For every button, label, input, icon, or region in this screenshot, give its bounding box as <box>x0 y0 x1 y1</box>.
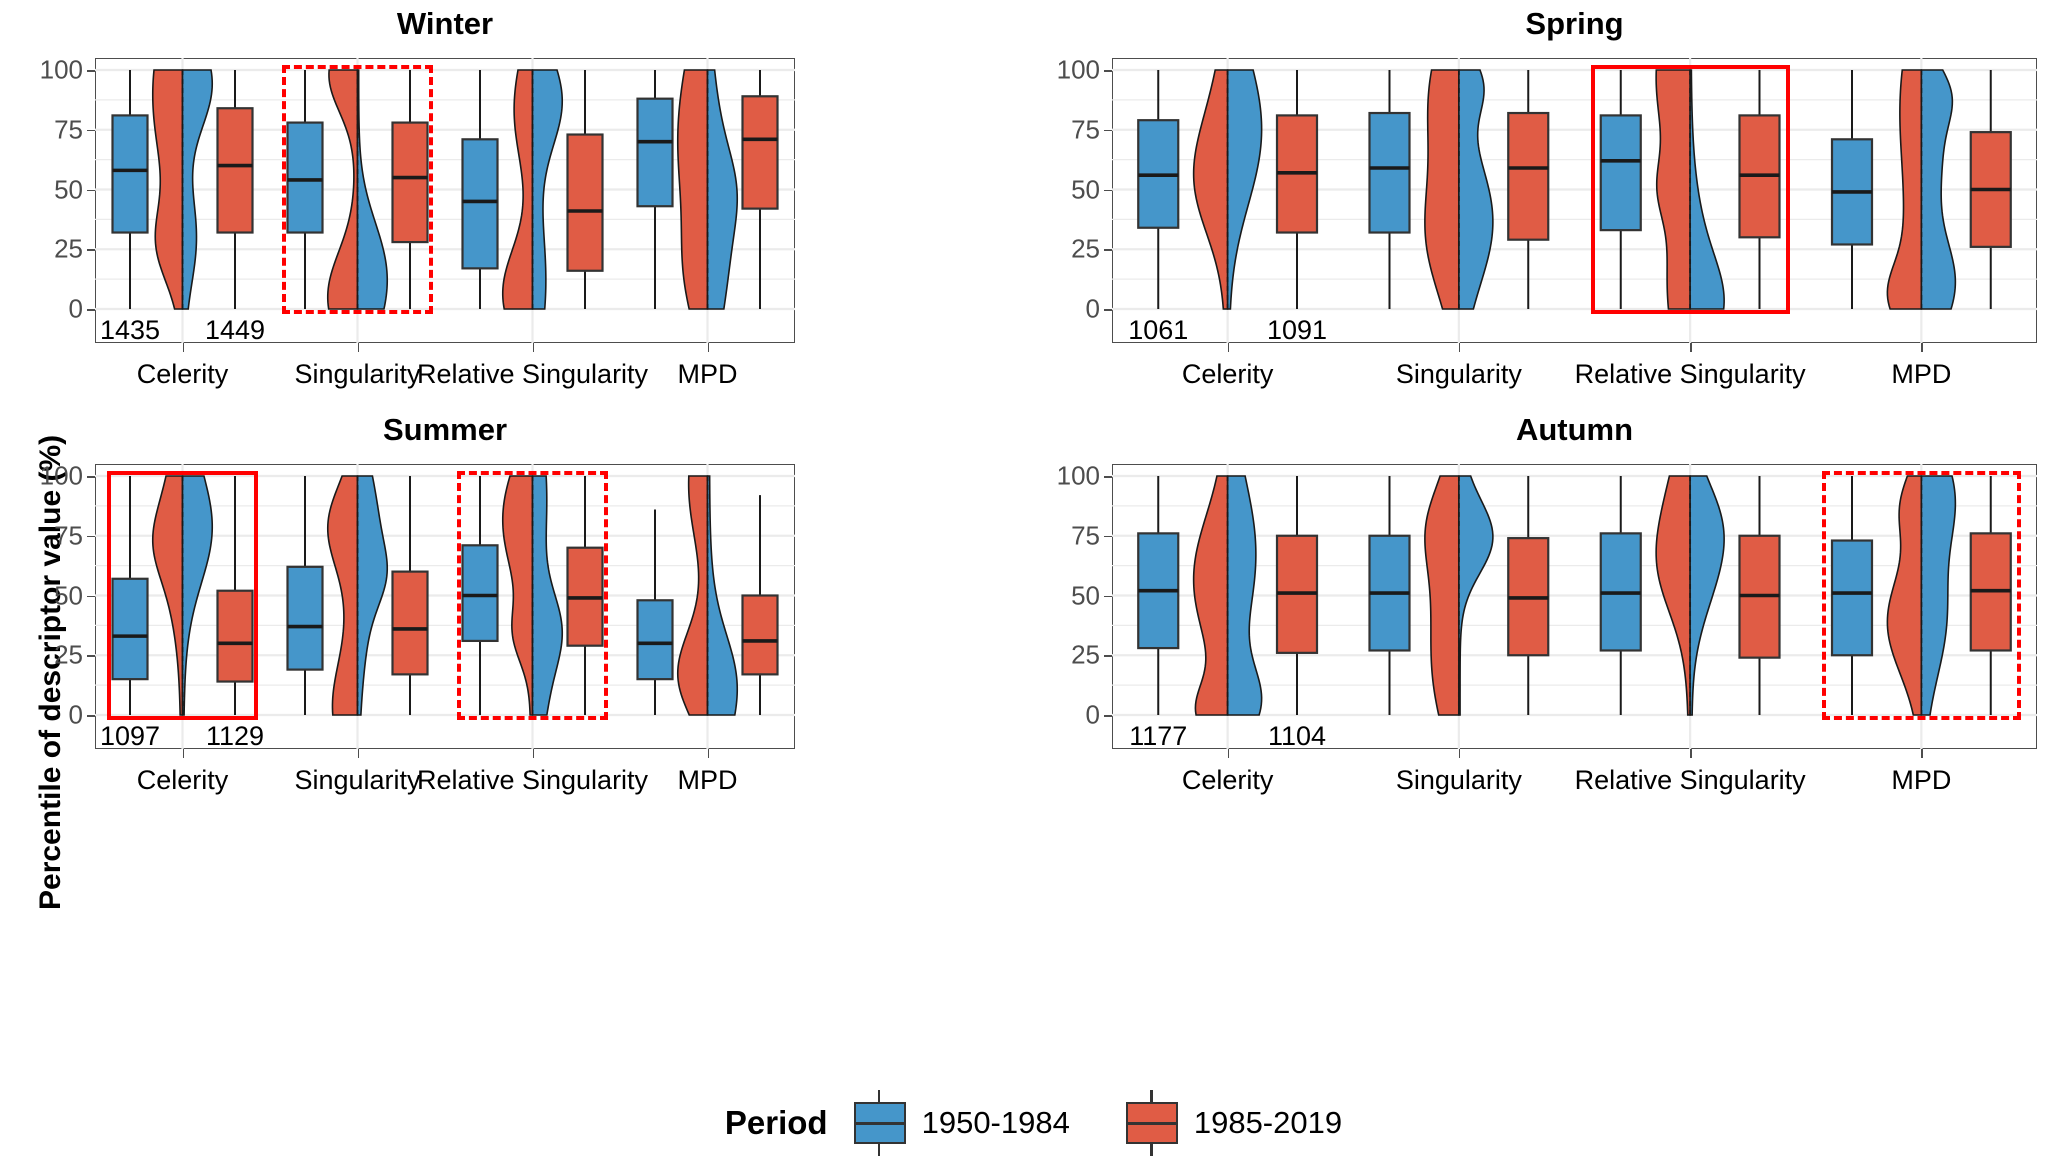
boxplot-1985-2019 <box>568 476 603 715</box>
y-tick-mark <box>87 309 95 311</box>
boxplot-1985-2019 <box>743 70 778 309</box>
x-tick-label-relative-singularity: Relative Singularity <box>417 765 648 796</box>
legend-key-median <box>854 1122 906 1125</box>
x-tick-label-celerity: Celerity <box>137 359 229 390</box>
y-tick-mark <box>87 249 95 251</box>
sample-size-label: 1097 <box>100 721 160 752</box>
x-tick-mark <box>1459 343 1461 352</box>
y-tick-label: 50 <box>23 174 83 205</box>
plot-canvas-summer <box>95 464 795 749</box>
y-tick-label: 0 <box>23 294 83 325</box>
boxplot-1985-2019 <box>1508 476 1548 715</box>
y-tick-mark <box>1104 309 1112 311</box>
boxplot-1950-1984 <box>1832 476 1872 715</box>
boxplot-1985-2019 <box>743 495 778 715</box>
x-tick-label-singularity: Singularity <box>1396 765 1522 796</box>
sample-size-label: 1177 <box>1129 721 1187 752</box>
boxplot-1950-1984 <box>1601 476 1641 715</box>
y-tick-label: 100 <box>1036 461 1100 492</box>
boxplot-1985-2019 <box>218 476 253 715</box>
y-tick-label: 100 <box>23 461 83 492</box>
plot-canvas-winter <box>95 58 795 343</box>
y-tick-label: 25 <box>23 234 83 265</box>
boxplot-1985-2019 <box>1971 70 2011 309</box>
y-tick-label: 25 <box>1036 640 1100 671</box>
x-tick-label-singularity: Singularity <box>294 765 420 796</box>
y-tick-mark <box>1104 536 1112 538</box>
sample-size-label: 1104 <box>1268 721 1326 752</box>
y-tick-mark <box>87 70 95 72</box>
x-tick-label-mpd: MPD <box>678 359 738 390</box>
x-tick-mark <box>1921 343 1923 352</box>
boxplot-1950-1984 <box>638 509 673 715</box>
boxplot-1950-1984 <box>463 476 498 715</box>
y-tick-label: 75 <box>1036 520 1100 551</box>
boxplot-1985-2019 <box>393 476 428 715</box>
violin-half-1985-2019 <box>1194 70 1228 309</box>
sample-size-label: 1129 <box>206 721 264 752</box>
sample-size-label: 1449 <box>205 315 265 346</box>
y-tick-mark <box>1104 130 1112 132</box>
y-tick-label: 75 <box>1036 114 1100 145</box>
x-tick-mark <box>183 343 185 352</box>
y-axis-label: Percentile of descriptor value (%) <box>34 435 68 910</box>
boxplot-1985-2019 <box>1277 476 1317 715</box>
violin-half-1985-2019 <box>1656 70 1690 309</box>
x-tick-label-relative-singularity: Relative Singularity <box>1575 359 1806 390</box>
y-tick-label: 0 <box>23 700 83 731</box>
violin-half-1950-1984 <box>1459 70 1493 309</box>
boxplot-1950-1984 <box>1138 476 1178 715</box>
boxplot-1985-2019 <box>1740 476 1780 715</box>
y-tick-label: 75 <box>23 114 83 145</box>
y-tick-mark <box>87 655 95 657</box>
x-tick-mark <box>708 749 710 758</box>
y-tick-label: 50 <box>1036 580 1100 611</box>
y-tick-label: 100 <box>23 55 83 86</box>
panel-spring <box>1112 58 2037 343</box>
y-tick-label: 25 <box>23 640 83 671</box>
y-tick-mark <box>87 190 95 192</box>
x-tick-label-celerity: Celerity <box>137 765 229 796</box>
boxplot-1950-1984 <box>1370 70 1410 309</box>
y-tick-label: 100 <box>1036 55 1100 86</box>
legend-key-period-1950-1984[interactable] <box>854 1090 906 1156</box>
x-tick-label-mpd: MPD <box>1891 359 1951 390</box>
x-tick-mark <box>533 749 535 758</box>
legend-label-period-1985-2019: 1985-2019 <box>1194 1105 1342 1141</box>
x-tick-label-celerity: Celerity <box>1182 359 1274 390</box>
boxplot-1950-1984 <box>113 476 148 715</box>
figure-root: Percentile of descriptor value (%)Winter… <box>0 0 2067 1168</box>
boxplot-1985-2019 <box>1508 70 1548 309</box>
panel-winter <box>95 58 795 343</box>
y-tick-mark <box>1104 596 1112 598</box>
x-tick-mark <box>1459 749 1461 758</box>
boxplot-1985-2019 <box>1277 70 1317 309</box>
y-tick-label: 75 <box>23 520 83 551</box>
boxplot-1985-2019 <box>1740 70 1780 309</box>
boxplot-1985-2019 <box>568 70 603 309</box>
boxplot-1950-1984 <box>288 476 323 715</box>
boxplot-1950-1984 <box>288 70 323 309</box>
y-tick-mark <box>1104 655 1112 657</box>
panel-autumn <box>1112 464 2037 749</box>
y-tick-mark <box>1104 190 1112 192</box>
boxplot-1985-2019 <box>393 70 428 309</box>
violin-half-1985-2019 <box>1425 70 1459 309</box>
y-tick-label: 0 <box>1036 294 1100 325</box>
boxplot-1950-1984 <box>1601 70 1641 309</box>
sample-size-label: 1061 <box>1128 315 1188 346</box>
boxplot-1985-2019 <box>218 70 253 309</box>
x-tick-label-mpd: MPD <box>1891 765 1951 796</box>
x-tick-mark <box>1690 343 1692 352</box>
boxplot-1950-1984 <box>1370 476 1410 715</box>
panel-summer <box>95 464 795 749</box>
boxplot-1950-1984 <box>638 70 673 309</box>
violin-half-1985-2019 <box>1194 476 1228 715</box>
boxplot-1985-2019 <box>1971 476 2011 715</box>
x-tick-mark <box>1228 343 1230 352</box>
violin-half-1950-1984 <box>358 476 388 715</box>
x-tick-mark <box>708 343 710 352</box>
plot-canvas-autumn <box>1112 464 2037 749</box>
violin-half-1950-1984 <box>708 70 738 309</box>
violin-half-1985-2019 <box>1425 476 1459 715</box>
panel-title-spring: Spring <box>872 6 2067 42</box>
x-tick-mark <box>358 749 360 758</box>
y-tick-mark <box>87 130 95 132</box>
y-tick-label: 50 <box>23 580 83 611</box>
y-tick-mark <box>87 715 95 717</box>
y-tick-label: 0 <box>1036 700 1100 731</box>
y-tick-mark <box>1104 249 1112 251</box>
x-tick-label-mpd: MPD <box>678 765 738 796</box>
y-tick-mark <box>1104 476 1112 478</box>
x-tick-label-relative-singularity: Relative Singularity <box>1575 765 1806 796</box>
x-tick-mark <box>358 343 360 352</box>
x-tick-mark <box>183 749 185 758</box>
x-tick-mark <box>1228 749 1230 758</box>
violin-half-1985-2019 <box>1887 476 1921 715</box>
violin-half-1985-2019 <box>678 70 708 309</box>
panel-title-autumn: Autumn <box>872 412 2067 448</box>
sample-size-label: 1435 <box>100 315 160 346</box>
legend-key-median <box>1126 1122 1178 1125</box>
legend-label-period-1950-1984: 1950-1984 <box>922 1105 1070 1141</box>
y-tick-mark <box>87 596 95 598</box>
x-tick-mark <box>533 343 535 352</box>
legend-title: Period <box>725 1104 828 1142</box>
x-tick-mark <box>1690 749 1692 758</box>
y-tick-mark <box>87 536 95 538</box>
legend-key-period-1985-2019[interactable] <box>1126 1090 1178 1156</box>
y-tick-mark <box>1104 70 1112 72</box>
boxplot-1950-1984 <box>1832 70 1872 309</box>
legend: Period1950-19841985-2019 <box>0 1088 2067 1158</box>
y-tick-label: 25 <box>1036 234 1100 265</box>
x-tick-label-celerity: Celerity <box>1182 765 1274 796</box>
plot-canvas-spring <box>1112 58 2037 343</box>
x-tick-label-relative-singularity: Relative Singularity <box>417 359 648 390</box>
x-tick-label-singularity: Singularity <box>1396 359 1522 390</box>
boxplot-1950-1984 <box>463 70 498 309</box>
x-tick-mark <box>1921 749 1923 758</box>
boxplot-1950-1984 <box>1138 70 1178 309</box>
y-tick-mark <box>1104 715 1112 717</box>
boxplot-1950-1984 <box>113 70 148 309</box>
y-tick-label: 50 <box>1036 174 1100 205</box>
sample-size-label: 1091 <box>1267 315 1327 346</box>
x-tick-label-singularity: Singularity <box>294 359 420 390</box>
y-tick-mark <box>87 476 95 478</box>
